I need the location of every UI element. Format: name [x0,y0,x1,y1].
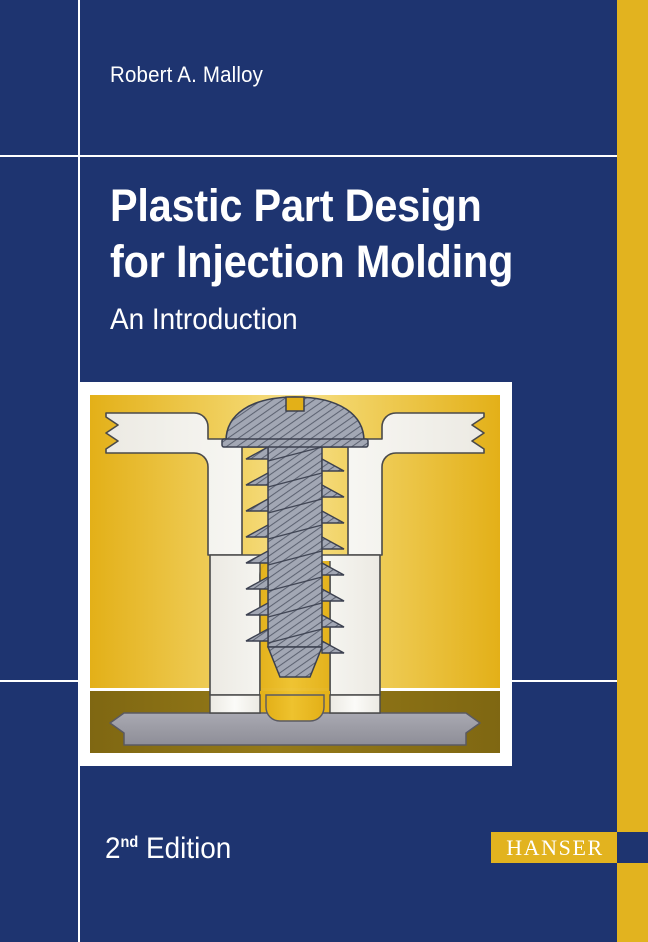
edition-ordinal: nd [121,834,139,851]
gold-accent-bar [617,0,648,942]
edition-number: 2 [105,832,121,865]
title-block: Plastic Part Design for Injection Moldin… [110,178,560,340]
book-cover: Robert A. Malloy Plastic Part Design for… [0,0,648,942]
illustration-screw-boss-cross-section [90,395,500,753]
publisher-name: HANSER [504,837,604,859]
book-title-line-2: for Injection Molding [110,234,524,290]
book-subtitle: An Introduction [110,300,529,340]
illustration-frame [78,382,512,766]
author-name: Robert A. Malloy [110,62,263,88]
book-title-line-1: Plastic Part Design [110,178,524,234]
publisher-logo: HANSER [491,832,617,863]
edition-label: 2nd Edition [105,832,231,866]
edition-word: Edition [146,832,231,865]
screw-drive-slot [286,397,304,411]
gold-accent-bar-notch [617,832,648,863]
grid-rule-horizontal-top [0,155,617,157]
